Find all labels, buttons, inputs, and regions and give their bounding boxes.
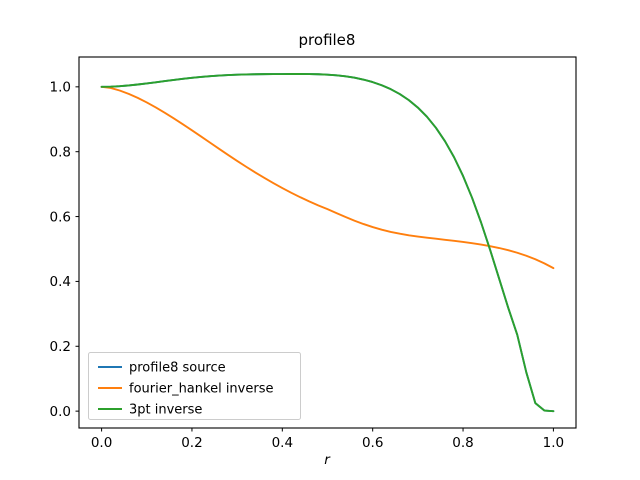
x-tick-label: 0.0 — [91, 435, 112, 451]
y-tick-label: 1.0 — [50, 80, 71, 96]
x-tick-label: 0.6 — [362, 435, 383, 451]
page-title: profile8 — [299, 31, 356, 49]
chart-legend: profile8 sourcefourier_hankel inverse3pt… — [89, 353, 301, 420]
matplotlib-figure: profile8 0.00.20.40.60.81.0 0.00.20.40.6… — [0, 0, 640, 480]
x-tick-label: 0.2 — [181, 435, 202, 451]
legend-label-2: 3pt inverse — [129, 403, 202, 418]
legend-label-1: fourier_hankel inverse — [129, 382, 273, 397]
plot-title-group: profile8 — [299, 31, 356, 49]
y-tick-label: 0.0 — [50, 404, 71, 420]
y-tick-label: 0.8 — [50, 144, 71, 160]
y-tick-label: 0.2 — [50, 339, 71, 355]
y-tick-label: 0.6 — [50, 209, 71, 225]
x-axis-ticks: 0.00.20.40.60.81.0 — [91, 428, 564, 451]
x-tick-label: 1.0 — [543, 435, 564, 451]
y-axis-ticks: 0.00.20.40.60.81.0 — [50, 80, 79, 420]
x-axis-title-group: r — [324, 452, 331, 468]
x-tick-label: 0.8 — [452, 435, 473, 451]
y-tick-label: 0.4 — [50, 274, 71, 290]
x-tick-label: 0.4 — [272, 435, 293, 451]
plot-canvas: profile8 0.00.20.40.60.81.0 0.00.20.40.6… — [0, 0, 640, 480]
legend-label-0: profile8 source — [129, 361, 226, 376]
x-axis-label: r — [324, 452, 331, 468]
series-line-fourier-hankel-inverse — [102, 87, 554, 268]
